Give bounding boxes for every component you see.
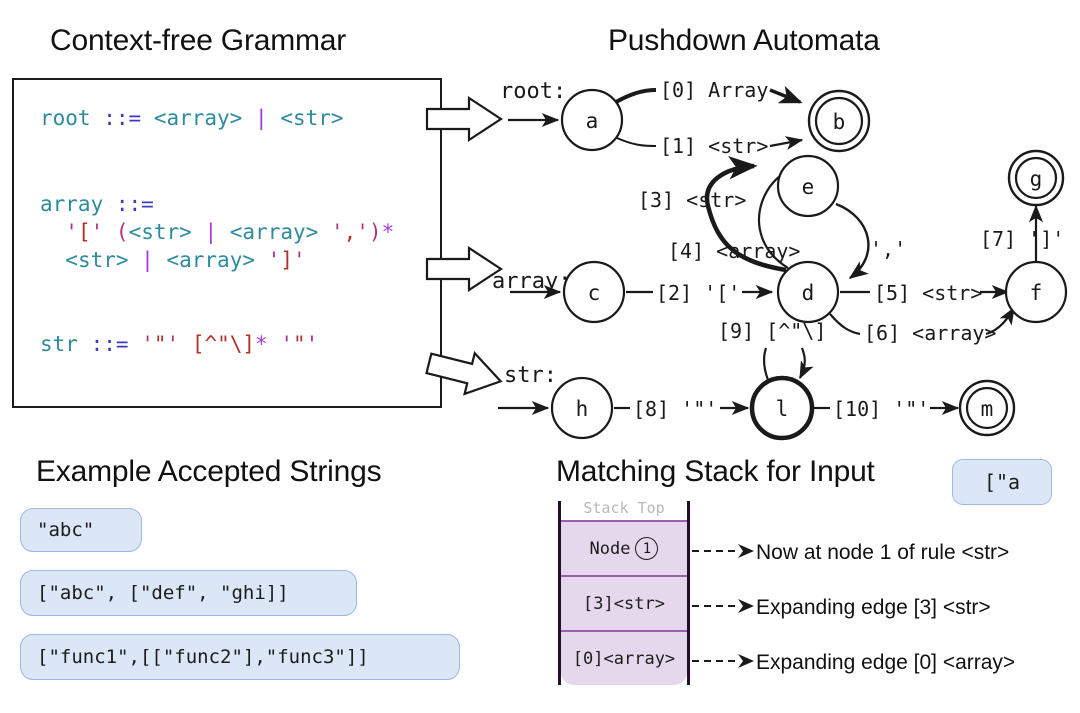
pda-edge-4-label: [4] <array> xyxy=(668,239,800,263)
grammar-token xyxy=(40,248,65,272)
grammar-token: ' xyxy=(306,332,319,356)
example-chip-2: ["abc", ["def", "ghi]] xyxy=(20,570,357,616)
grammar-token xyxy=(318,220,331,244)
pda-edge-0-line xyxy=(616,90,656,102)
grammar-token: ::= xyxy=(103,106,141,130)
grammar-token xyxy=(91,106,104,130)
grammar-token xyxy=(192,220,205,244)
pda-edge-6-line xyxy=(830,314,860,334)
grammar-token xyxy=(40,220,65,244)
grammar-token: <str> xyxy=(280,106,343,130)
grammar-token: * xyxy=(382,220,395,244)
stack-arrow-2 xyxy=(690,650,760,672)
grammar-token: ) xyxy=(369,220,382,244)
pda-node-c-label: c xyxy=(588,281,601,305)
pda-edge-3-label: [3] <str> xyxy=(638,188,746,212)
stack-arrow-1 xyxy=(690,595,760,617)
stack-arrow-0 xyxy=(690,540,760,562)
grammar-token xyxy=(103,220,116,244)
grammar-line-array-head: array ::= xyxy=(40,192,154,216)
grammar-line-array-body2: <str> | <array> ']' xyxy=(40,248,306,272)
pda-edge-2-label: [2] '[' xyxy=(656,281,740,305)
grammar-token: <str> xyxy=(65,248,128,272)
pda-edge-9-head xyxy=(800,348,805,378)
grammar-token: ' xyxy=(141,332,154,356)
grammar-token: [ xyxy=(78,220,91,244)
grammar-token: ' xyxy=(167,332,180,356)
grammar-token: array xyxy=(40,192,103,216)
grammar-token xyxy=(129,332,142,356)
pda-edge-1-line xyxy=(617,138,656,146)
stack-cell-0: Node 1 xyxy=(561,520,687,575)
pda-node-l-label: l xyxy=(776,397,789,421)
pda-rule-label-root: root: xyxy=(500,79,566,104)
grammar-token xyxy=(217,220,230,244)
grammar-token: ' xyxy=(268,248,281,272)
grammar-token: ] xyxy=(280,248,293,272)
grammar-line-array-body1: '[' (<str> | <array> ',')* xyxy=(40,220,394,244)
pda-edge-0-head xyxy=(770,90,800,102)
grammar-token: <str> xyxy=(129,220,192,244)
stack-cell-0-prefix: Node xyxy=(590,539,631,559)
pda-edge-6-label: [6] <array> xyxy=(864,321,996,345)
pda-edge-5-label: [5] <str> xyxy=(874,281,982,305)
pda-rule-label-str: str: xyxy=(504,363,557,388)
pda-edge-8-label: [8] '"' xyxy=(633,397,717,421)
example-chip-3: ["func1",[["func2"],"func3"]] xyxy=(20,634,460,680)
grammar-token xyxy=(129,248,142,272)
grammar-token xyxy=(154,248,167,272)
grammar-token: ' xyxy=(356,220,369,244)
grammar-token: ' xyxy=(280,332,293,356)
stack-cell-1: [3]<str> xyxy=(561,575,687,630)
pda-edge-7-label: [7] ']' xyxy=(980,227,1064,251)
pda-rule-label-array: array: xyxy=(492,269,571,294)
grammar-token: ' xyxy=(293,248,306,272)
grammar-token xyxy=(268,332,281,356)
grammar-token xyxy=(242,106,255,130)
pda-node-m-label: m xyxy=(981,397,994,421)
stack-cell-2: [0]<array> xyxy=(561,630,687,685)
pda-node-h-label: h xyxy=(576,397,589,421)
grammar-token: <array> xyxy=(154,106,243,130)
grammar-token: str xyxy=(40,332,78,356)
grammar-token xyxy=(255,248,268,272)
grammar-token: ::= xyxy=(91,332,129,356)
grammar-box: root ::= <array> | <str> array ::= '[' (… xyxy=(12,78,442,408)
grammar-token xyxy=(179,332,192,356)
page-title-examples: Example Accepted Strings xyxy=(36,455,381,489)
page-title-grammar: Context-free Grammar xyxy=(50,24,346,58)
grammar-token: root xyxy=(40,106,91,130)
pda-edge-comma-label: ',' xyxy=(870,237,906,261)
pda-edge-9-label: [9] [^"\] xyxy=(718,319,826,343)
page-title-pda: Pushdown Automata xyxy=(608,24,880,58)
grammar-token: [^"\] xyxy=(192,332,255,356)
pda-edge-comma-line xyxy=(836,204,868,278)
example-chip-1: "abc" xyxy=(20,508,142,552)
grammar-line-root: root ::= <array> | <str> xyxy=(40,106,344,130)
pda-diagram: root: array: str: a [0] Array [1] <str> … xyxy=(480,66,1080,446)
grammar-token: <array> xyxy=(166,248,255,272)
pda-node-g-label: g xyxy=(1030,167,1043,191)
grammar-token xyxy=(268,106,281,130)
grammar-token: ' xyxy=(65,220,78,244)
grammar-token: * xyxy=(255,332,268,356)
pda-node-a-label: a xyxy=(586,109,599,133)
grammar-token: | xyxy=(255,106,268,130)
grammar-token xyxy=(141,106,154,130)
grammar-token: | xyxy=(141,248,154,272)
stack-annotation-0: Now at node 1 of rule <str> xyxy=(756,541,1009,565)
grammar-token: <array> xyxy=(230,220,319,244)
input-string-chip: ["a xyxy=(952,459,1052,505)
stack-cell-0-node-number: 1 xyxy=(635,537,658,560)
grammar-token: ::= xyxy=(116,192,154,216)
grammar-token xyxy=(78,332,91,356)
grammar-token: | xyxy=(204,220,217,244)
stack-annotation-2: Expanding edge [0] <array> xyxy=(756,651,1015,675)
pda-edge-1-label: [1] <str> xyxy=(660,134,768,158)
pda-edge-0-label: [0] Array xyxy=(660,78,768,102)
pda-edge-10-label: [10] '"' xyxy=(833,397,929,421)
pda-node-d-label: d xyxy=(802,281,815,305)
pda-edge-1-head xyxy=(770,140,802,146)
stack-annotation-1: Expanding edge [3] <str> xyxy=(756,596,991,620)
grammar-token: " xyxy=(293,332,306,356)
grammar-token xyxy=(103,192,116,216)
page-title-stack: Matching Stack for Input xyxy=(556,455,875,489)
grammar-token: , xyxy=(344,220,357,244)
grammar-token: ' xyxy=(331,220,344,244)
pda-node-f-label: f xyxy=(1030,281,1043,305)
stack-top-label: Stack Top xyxy=(558,497,690,519)
grammar-token: " xyxy=(154,332,167,356)
matching-stack: Stack Top Node 1 [3]<str> [0]<array> xyxy=(558,497,690,685)
pda-edge-9-tail xyxy=(764,348,768,380)
grammar-line-str: str ::= '"' [^"\]* '"' xyxy=(40,332,318,356)
grammar-token: ' xyxy=(91,220,104,244)
pda-node-e-label: e xyxy=(802,175,815,199)
grammar-token: ( xyxy=(116,220,129,244)
pda-node-b-label: b xyxy=(833,110,846,134)
